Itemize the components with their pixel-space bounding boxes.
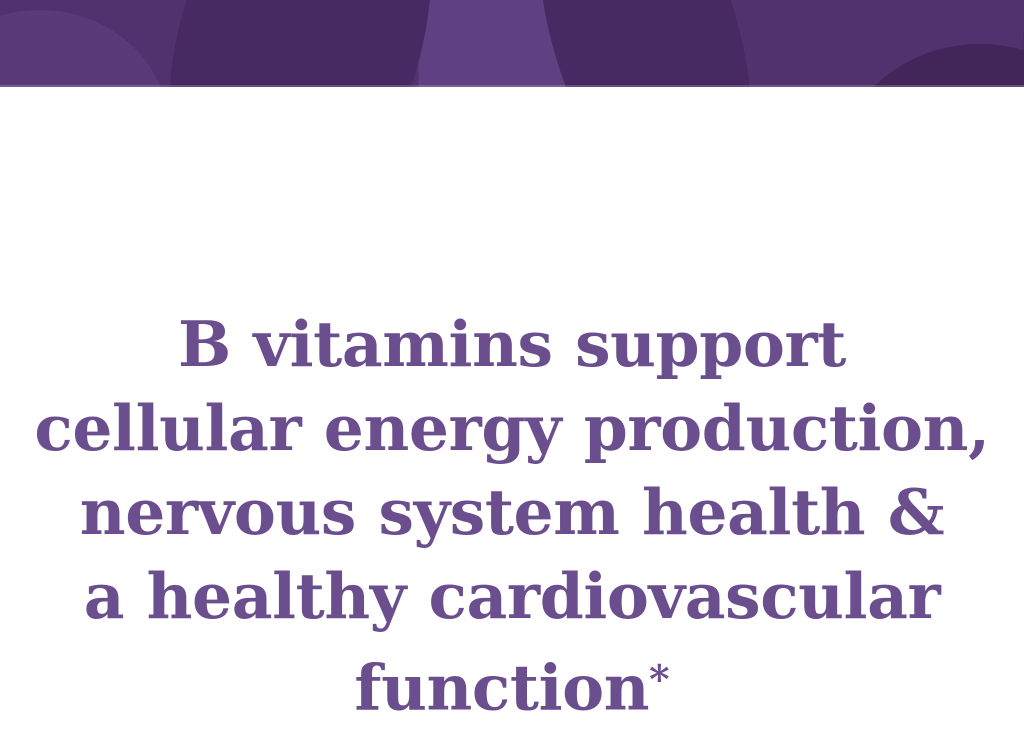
headline-line-4: a healthy cardiovascular <box>32 554 992 638</box>
headline-line-5: function* <box>32 638 992 729</box>
headline-last-word: function <box>354 650 649 724</box>
headline-line-1: B vitamins support <box>32 302 992 386</box>
decorative-purple-banner <box>0 0 1024 87</box>
banner-shapes-graphic <box>0 0 1024 87</box>
product-benefit-page: B vitamins support cellular energy produ… <box>0 0 1024 739</box>
headline-container: B vitamins support cellular energy produ… <box>0 87 1024 739</box>
benefit-statement: B vitamins support cellular energy produ… <box>32 302 992 729</box>
footnote-asterisk: * <box>649 657 669 703</box>
headline-line-2: cellular energy production, <box>32 386 992 470</box>
headline-line-3: nervous system health & <box>32 470 992 554</box>
